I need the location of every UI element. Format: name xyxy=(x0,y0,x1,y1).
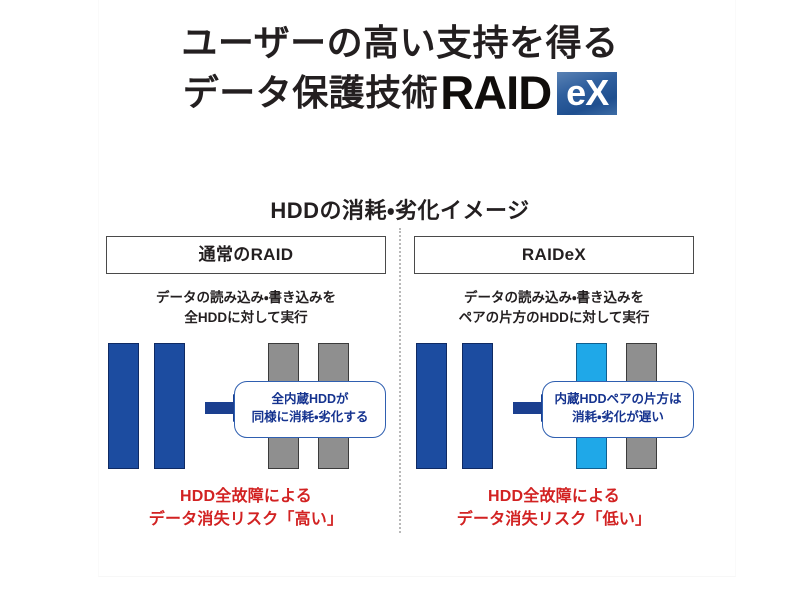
risk-line2: データ消失リスク「低い」 xyxy=(414,509,694,532)
diagram-normal-raid: 全内蔵HDDが 同様に消耗・劣化する xyxy=(106,339,386,473)
page-title-japanese: データ保護技術 xyxy=(183,74,439,112)
panel-description-normal-raid: データの読み込み・書き込みを 全HDDに対して実行 xyxy=(106,288,386,327)
risk-label-normal-raid: HDD全故障による データ消失リスク「高い」 xyxy=(106,486,386,531)
page-title-line2: データ保護技術 RAID eX xyxy=(0,69,800,116)
risk-label-raidex: HDD全故障による データ消失リスク「低い」 xyxy=(414,486,694,531)
risk-line1: HDD全故障による xyxy=(414,486,694,509)
risk-line1: HDD全故障による xyxy=(106,486,386,509)
panel-divider xyxy=(399,228,401,533)
panel-normal-raid: 通常のRAID データの読み込み・書き込みを 全HDDに対して実行 全内蔵HDD… xyxy=(106,236,386,473)
hdd-source-2 xyxy=(154,343,185,469)
panel-description-raidex: データの読み込み・書き込みを ペアの片方のHDDに対して実行 xyxy=(414,288,694,327)
panel-header-normal-raid: 通常のRAID xyxy=(106,236,386,274)
slide-canvas: ユーザーの高い支持を得る データ保護技術 RAID eX HDDの消耗・劣化イメ… xyxy=(0,0,800,600)
title-block: ユーザーの高い支持を得る データ保護技術 RAID eX xyxy=(0,22,800,116)
panel-raidex: RAIDeX データの読み込み・書き込みを ペアの片方のHDDに対して実行 内蔵… xyxy=(414,236,694,473)
callout-raidex: 内蔵HDDペアの片方は 消耗・劣化が遅い xyxy=(542,381,694,438)
diagram-raidex: 内蔵HDDペアの片方は 消耗・劣化が遅い xyxy=(414,339,694,473)
callout-line2: 消耗・劣化が遅い xyxy=(547,409,689,427)
panel-description-line1: データの読み込み・書き込みを xyxy=(414,288,694,308)
panel-description-line2: ペアの片方のHDDに対して実行 xyxy=(414,308,694,328)
page-title-line1: ユーザーの高い支持を得る xyxy=(0,22,800,63)
ex-badge: eX xyxy=(557,72,617,115)
callout-line1: 内蔵HDDペアの片方は xyxy=(547,391,689,409)
panel-description-line2: 全HDDに対して実行 xyxy=(106,308,386,328)
panel-header-raidex: RAIDeX xyxy=(414,236,694,274)
panel-description-line1: データの読み込み・書き込みを xyxy=(106,288,386,308)
hdd-source-2 xyxy=(462,343,493,469)
section-heading: HDDの消耗・劣化イメージ xyxy=(0,193,800,225)
callout-line1: 全内蔵HDDが xyxy=(239,391,381,409)
callout-line2: 同様に消耗・劣化する xyxy=(239,409,381,427)
callout-normal-raid: 全内蔵HDDが 同様に消耗・劣化する xyxy=(234,381,386,438)
risk-line2: データ消失リスク「高い」 xyxy=(106,509,386,532)
raid-wordmark: RAID xyxy=(440,69,551,116)
hdd-source-1 xyxy=(108,343,139,469)
hdd-source-1 xyxy=(416,343,447,469)
